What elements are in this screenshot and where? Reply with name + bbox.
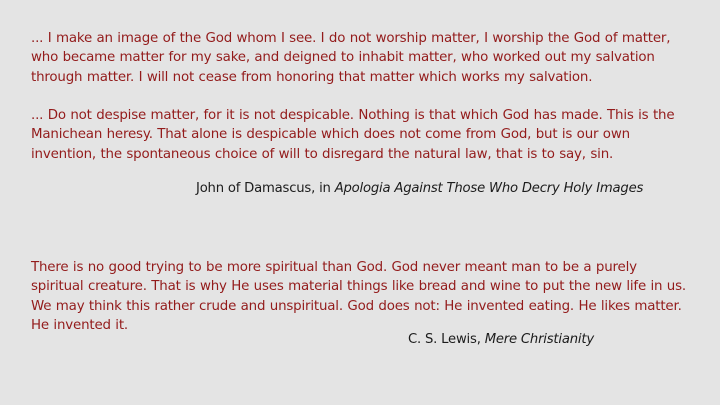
quote-block-lewis: There is no good trying to be more spiri…: [31, 258, 693, 335]
quote-paragraph: ... Do not despise matter, for it is not…: [31, 106, 693, 164]
attribution-work-title: Apologia Against Those Who Decry Holy Im…: [335, 181, 644, 196]
slide-canvas: ... I make an image of the God whom I se…: [0, 0, 720, 405]
quote-paragraph: ... I make an image of the God whom I se…: [31, 29, 693, 87]
attribution-author: John of Damascus, in: [196, 181, 335, 196]
attribution-lewis: C. S. Lewis, Mere Christianity: [408, 331, 594, 349]
attribution-work-title: Mere Christianity: [485, 332, 594, 347]
quote-block-damascus: ... I make an image of the God whom I se…: [31, 29, 693, 164]
attribution-author: C. S. Lewis,: [408, 332, 485, 347]
attribution-damascus: John of Damascus, in Apologia Against Th…: [196, 180, 643, 198]
quote-paragraph: There is no good trying to be more spiri…: [31, 258, 693, 335]
